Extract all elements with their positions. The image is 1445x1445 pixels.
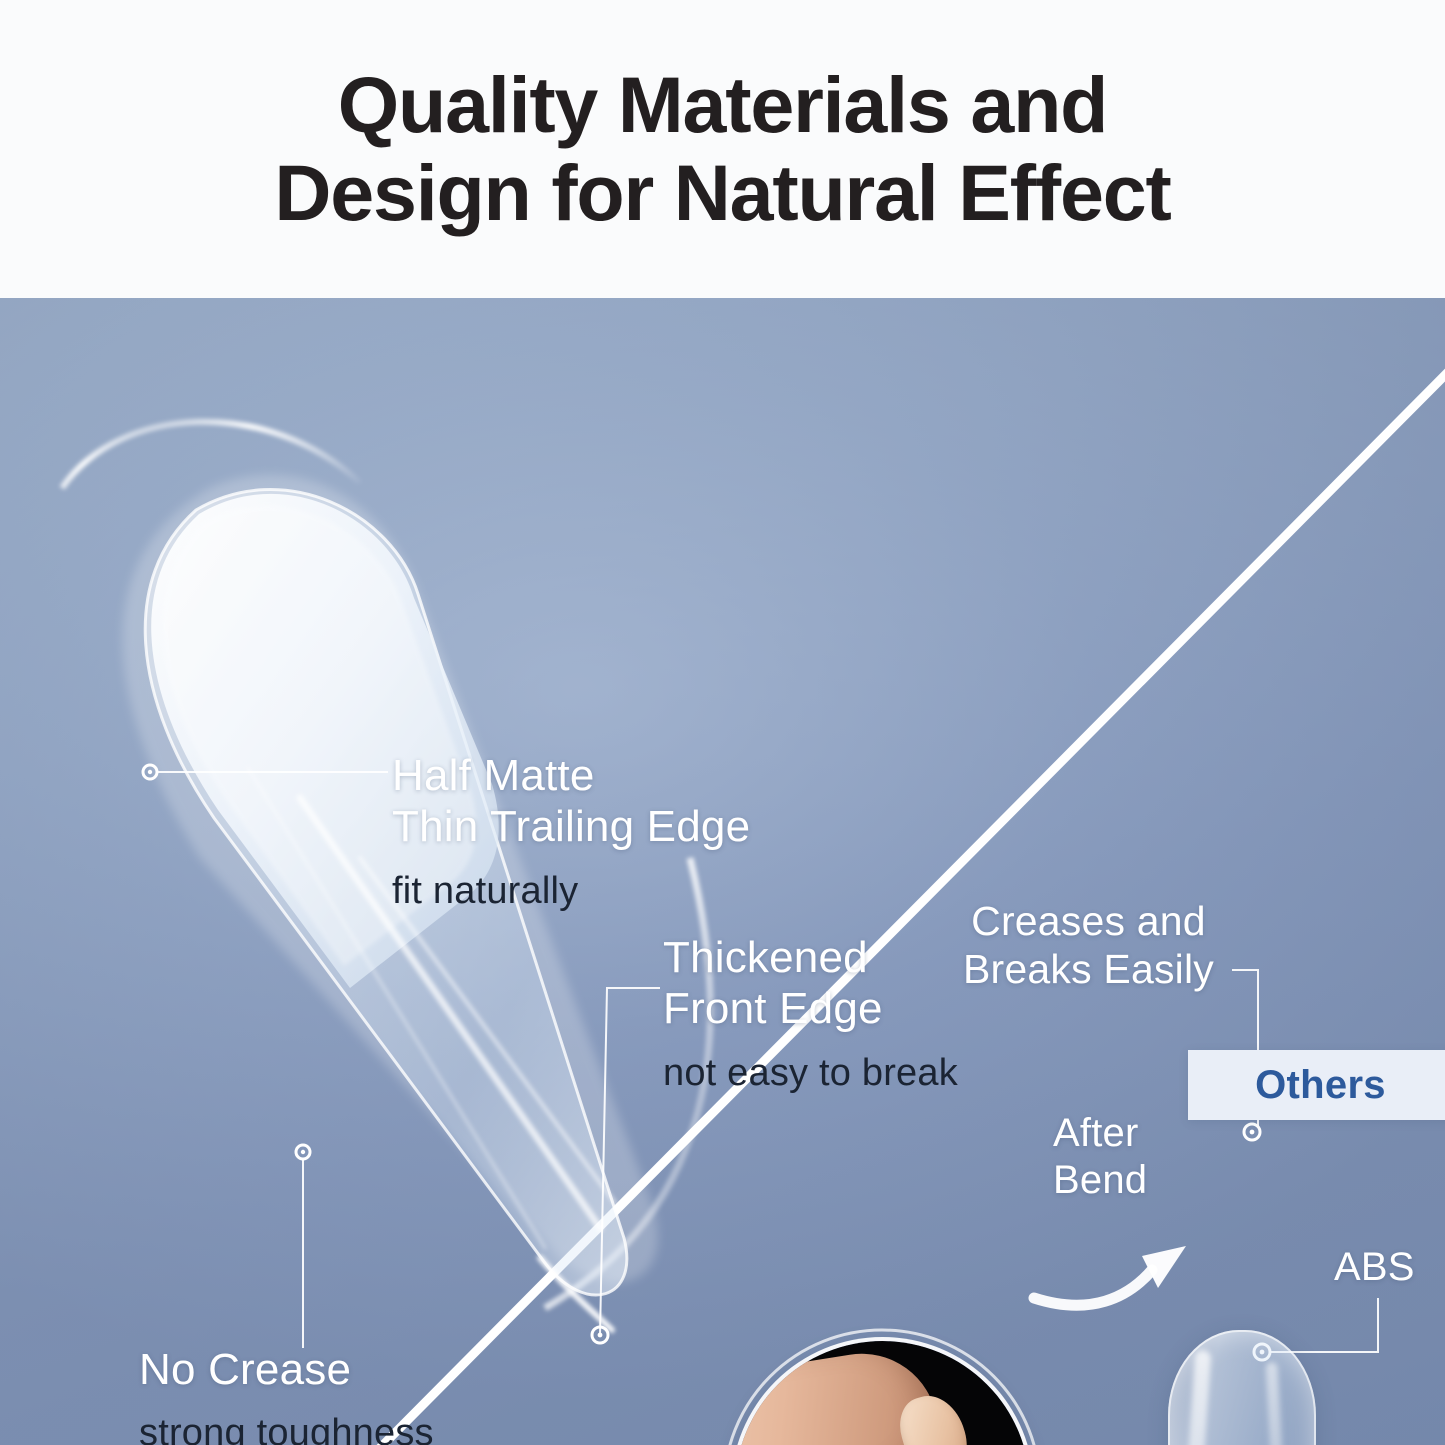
bend-arrow-icon — [1034, 1246, 1186, 1305]
callout-creases-breaks: Creases and Breaks Easily — [963, 898, 1214, 994]
callout-creases-breaks-heading: Creases and Breaks Easily — [963, 898, 1214, 994]
glow-arc-top — [62, 422, 360, 488]
callout-abs-material: ABS — [1334, 1244, 1415, 1291]
comparison-photo-area: Half Matte Thin Trailing Edge fit natura… — [0, 298, 1445, 1445]
leader-no-crease — [296, 1145, 310, 1348]
callout-after-bend-heading: After Bend — [1053, 1110, 1147, 1204]
abs-tip-outline — [1168, 1330, 1316, 1445]
others-badge-label: Others — [1255, 1063, 1386, 1108]
callout-thickened-front-edge: Thickened Front Edge not easy to break — [663, 932, 958, 1097]
others-abs-nail-tip — [1168, 1330, 1316, 1445]
page-title-line-2: Design for Natural Effect — [274, 149, 1170, 237]
header-banner: Quality Materials and Design for Natural… — [0, 0, 1445, 298]
callout-no-crease-heading: No Crease — [139, 1344, 434, 1395]
infographic-root: Quality Materials and Design for Natural… — [0, 0, 1445, 1445]
callout-thickened-front-edge-subtext: not easy to break — [663, 1051, 958, 1097]
callout-thickened-front-edge-heading: Thickened Front Edge — [663, 932, 958, 1035]
callout-half-matte-heading: Half Matte Thin Trailing Edge — [392, 750, 750, 853]
callout-abs-material-heading: ABS — [1334, 1244, 1415, 1291]
page-title-line-1: Quality Materials and — [338, 61, 1107, 149]
callout-half-matte: Half Matte Thin Trailing Edge fit natura… — [392, 750, 750, 915]
callout-half-matte-subtext: fit naturally — [392, 869, 750, 915]
callout-after-bend: After Bend — [1053, 1110, 1147, 1204]
callout-no-crease-subtext: strong toughness — [139, 1411, 434, 1445]
callout-no-crease: No Crease strong toughness — [139, 1344, 434, 1445]
others-badge: Others — [1188, 1050, 1445, 1120]
